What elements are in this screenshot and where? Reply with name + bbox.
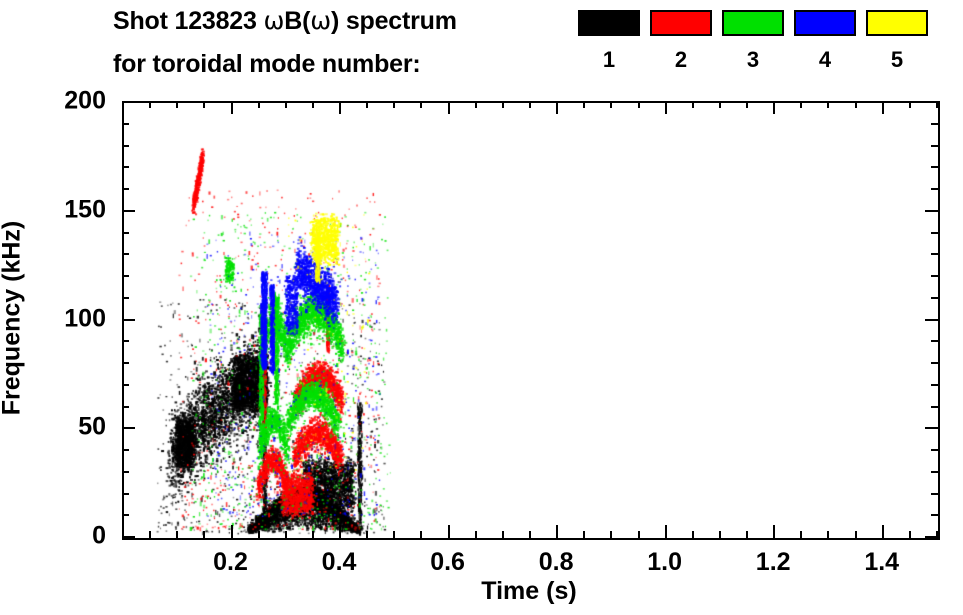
x-minor-tick-top xyxy=(420,101,422,108)
legend-swatch-5 xyxy=(866,10,928,36)
y-minor-tick-right xyxy=(931,123,938,125)
y-major-tick-right xyxy=(925,210,938,212)
y-minor-tick xyxy=(122,253,129,255)
y-minor-tick-right xyxy=(931,449,938,451)
x-minor-tick-top xyxy=(529,101,531,108)
y-minor-tick-right xyxy=(931,253,938,255)
x-minor-tick-top xyxy=(746,101,748,108)
x-minor-tick-top xyxy=(719,101,721,108)
legend-item-2[interactable]: 2 xyxy=(650,10,712,72)
title-text-mid: B( xyxy=(284,7,310,35)
legend-label-1: 1 xyxy=(578,48,640,72)
y-major-tick xyxy=(122,101,135,103)
legend-label-4: 4 xyxy=(794,48,856,72)
x-minor-tick-top xyxy=(203,101,205,108)
x-minor-tick xyxy=(176,531,178,538)
x-major-tick-top xyxy=(448,101,450,114)
legend-label-5: 5 xyxy=(866,48,928,72)
y-minor-tick-right xyxy=(931,232,938,234)
y-minor-tick xyxy=(122,406,129,408)
y-minor-tick xyxy=(122,188,129,190)
y-major-tick xyxy=(122,210,135,212)
x-major-tick xyxy=(339,525,341,538)
y-minor-tick-right xyxy=(931,406,938,408)
x-minor-tick xyxy=(393,531,395,538)
legend-swatch-1 xyxy=(578,10,640,36)
legend-label-3: 3 xyxy=(722,48,784,72)
figure-title-line-2: for toroidal mode number: xyxy=(113,50,421,79)
x-minor-tick-top xyxy=(366,101,368,108)
x-major-tick xyxy=(556,525,558,538)
y-tick-label-0: 0 xyxy=(0,522,106,551)
x-major-tick xyxy=(448,525,450,538)
x-major-tick-top xyxy=(339,101,341,114)
x-minor-tick xyxy=(800,531,802,538)
y-minor-tick-right xyxy=(931,471,938,473)
x-minor-tick-top xyxy=(827,101,829,108)
y-minor-tick-right xyxy=(931,340,938,342)
x-minor-tick xyxy=(475,531,477,538)
y-minor-tick-right xyxy=(931,297,938,299)
legend-swatch-2 xyxy=(650,10,712,36)
y-major-tick xyxy=(122,319,135,321)
x-axis-title: Time (s) xyxy=(481,577,576,606)
x-tick-label-0.2: 0.2 xyxy=(213,548,248,577)
title-text-pre: Shot 123823 xyxy=(113,7,263,35)
x-minor-tick xyxy=(502,531,504,538)
x-tick-label-0.4: 0.4 xyxy=(322,548,357,577)
x-major-tick-top xyxy=(556,101,558,114)
x-minor-tick xyxy=(746,531,748,538)
x-major-tick-top xyxy=(665,101,667,114)
x-minor-tick xyxy=(719,531,721,538)
x-minor-tick-top xyxy=(610,101,612,108)
x-minor-tick-top xyxy=(149,101,151,108)
x-tick-label-0.6: 0.6 xyxy=(430,548,465,577)
y-minor-tick-right xyxy=(931,362,938,364)
legend-swatch-4 xyxy=(794,10,856,36)
x-minor-tick-top xyxy=(909,101,911,108)
y-minor-tick xyxy=(122,123,129,125)
x-minor-tick-top xyxy=(638,101,640,108)
x-minor-tick-top xyxy=(800,101,802,108)
y-minor-tick xyxy=(122,514,129,516)
y-minor-tick xyxy=(122,384,129,386)
x-minor-tick-top xyxy=(312,101,314,108)
x-minor-tick-top xyxy=(258,101,260,108)
x-major-tick-top xyxy=(882,101,884,114)
x-minor-tick xyxy=(529,531,531,538)
x-minor-tick xyxy=(855,531,857,538)
y-minor-tick xyxy=(122,340,129,342)
y-minor-tick xyxy=(122,471,129,473)
x-major-tick-top xyxy=(773,101,775,114)
y-minor-tick xyxy=(122,449,129,451)
legend-item-3[interactable]: 3 xyxy=(722,10,784,72)
x-minor-tick xyxy=(420,531,422,538)
x-minor-tick xyxy=(366,531,368,538)
x-minor-tick-top xyxy=(393,101,395,108)
y-major-tick-right xyxy=(925,427,938,429)
x-minor-tick xyxy=(692,531,694,538)
legend-label-2: 2 xyxy=(650,48,712,72)
x-minor-tick-top xyxy=(285,101,287,108)
legend-swatch-3 xyxy=(722,10,784,36)
omega-symbol-2: ω xyxy=(310,6,331,35)
spectrogram-canvas xyxy=(124,103,938,538)
x-minor-tick xyxy=(312,531,314,538)
x-minor-tick xyxy=(827,531,829,538)
y-minor-tick xyxy=(122,362,129,364)
y-major-tick xyxy=(122,427,135,429)
x-minor-tick xyxy=(203,531,205,538)
x-minor-tick xyxy=(285,531,287,538)
x-minor-tick-top xyxy=(855,101,857,108)
legend-item-4[interactable]: 4 xyxy=(794,10,856,72)
y-minor-tick-right xyxy=(931,275,938,277)
y-minor-tick-right xyxy=(931,166,938,168)
figure-title-line-1: Shot 123823 ωB(ω) spectrum xyxy=(113,6,457,36)
x-major-tick xyxy=(773,525,775,538)
y-axis-title: Frequency (kHz) xyxy=(0,221,27,415)
plot-area xyxy=(122,101,940,540)
title-text-post: ) spectrum xyxy=(331,7,457,35)
spectrogram-figure: Shot 123823 ωB(ω) spectrum for toroidal … xyxy=(0,0,963,615)
legend: 12345 xyxy=(578,10,938,90)
y-minor-tick-right xyxy=(931,514,938,516)
x-minor-tick-top xyxy=(176,101,178,108)
x-minor-tick xyxy=(583,531,585,538)
x-major-tick xyxy=(882,525,884,538)
x-major-tick-top xyxy=(231,101,233,114)
x-minor-tick-top xyxy=(583,101,585,108)
y-minor-tick-right xyxy=(931,145,938,147)
y-minor-tick xyxy=(122,493,129,495)
legend-item-1[interactable]: 1 xyxy=(578,10,640,72)
y-major-tick-right xyxy=(925,101,938,103)
y-minor-tick xyxy=(122,275,129,277)
x-minor-tick-top xyxy=(475,101,477,108)
x-minor-tick xyxy=(258,531,260,538)
x-major-tick xyxy=(665,525,667,538)
x-minor-tick-top xyxy=(502,101,504,108)
y-minor-tick-right xyxy=(931,493,938,495)
x-minor-tick-top xyxy=(692,101,694,108)
x-tick-label-1.4: 1.4 xyxy=(864,548,899,577)
y-minor-tick xyxy=(122,232,129,234)
y-major-tick xyxy=(122,536,135,538)
y-tick-label-50: 50 xyxy=(0,413,106,442)
y-major-tick-right xyxy=(925,319,938,321)
y-minor-tick xyxy=(122,145,129,147)
y-minor-tick xyxy=(122,166,129,168)
x-minor-tick xyxy=(638,531,640,538)
x-tick-label-1.0: 1.0 xyxy=(647,548,682,577)
x-tick-label-0.8: 0.8 xyxy=(539,548,574,577)
legend-item-5[interactable]: 5 xyxy=(866,10,928,72)
x-tick-label-1.2: 1.2 xyxy=(756,548,791,577)
x-minor-tick xyxy=(149,531,151,538)
y-minor-tick-right xyxy=(931,188,938,190)
omega-symbol-1: ω xyxy=(263,6,284,35)
x-major-tick xyxy=(231,525,233,538)
y-minor-tick-right xyxy=(931,384,938,386)
y-minor-tick xyxy=(122,297,129,299)
y-major-tick-right xyxy=(925,536,938,538)
x-minor-tick xyxy=(610,531,612,538)
x-minor-tick xyxy=(909,531,911,538)
y-tick-label-200: 200 xyxy=(0,87,106,116)
